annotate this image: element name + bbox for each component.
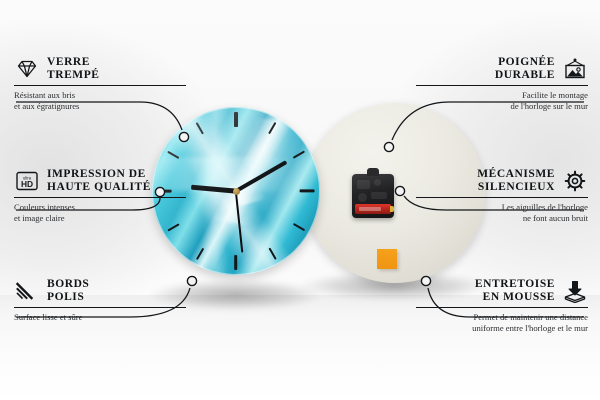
battery bbox=[355, 204, 391, 214]
feature-desc-line2: de l'horloge sur le mur bbox=[511, 101, 588, 111]
feature-desc-line1: Résistant aux bris bbox=[14, 90, 75, 100]
feature-title: BORDS POLIS bbox=[47, 278, 89, 304]
feature-description: Couleurs intenses et image claire bbox=[14, 202, 186, 223]
feature-divider bbox=[416, 307, 588, 308]
feature-mecanisme-silencieux: MÉCANISME SILENCIEUX Les aiguilles de l'… bbox=[416, 168, 588, 223]
feature-title-line1: VERRE bbox=[47, 56, 90, 68]
mechanism-detail bbox=[374, 179, 381, 186]
feature-header: POIGNÉE DURABLE bbox=[416, 56, 588, 82]
feature-desc-line1: Permet de maintenir une distance bbox=[473, 312, 588, 322]
mechanism-detail bbox=[357, 180, 370, 189]
feature-title-line2: EN MOUSSE bbox=[483, 291, 555, 303]
feature-impression-haute-qualite: ultra HD IMPRESSION DE HAUTE QUALITÉ Cou… bbox=[14, 168, 186, 223]
feature-entretoise-en-mousse: ENTRETOISE EN MOUSSE Permet de maintenir… bbox=[416, 278, 588, 333]
feature-description: Résistant aux bris et aux égratignures bbox=[14, 90, 186, 111]
feature-verre-trempe: VERRE TREMPÉ Résistant aux bris et aux é… bbox=[14, 56, 186, 111]
diagonal-lines-icon bbox=[14, 279, 40, 303]
feature-header: MÉCANISME SILENCIEUX bbox=[416, 168, 588, 194]
svg-text:HD: HD bbox=[21, 179, 33, 189]
clock-mechanism bbox=[352, 174, 394, 218]
infographic-canvas: VERRE TREMPÉ Résistant aux bris et aux é… bbox=[0, 0, 600, 400]
battery-terminal bbox=[390, 206, 394, 212]
feature-title: MÉCANISME SILENCIEUX bbox=[477, 168, 555, 194]
press-down-pad-icon bbox=[562, 279, 588, 303]
feature-divider bbox=[14, 197, 186, 198]
feature-title-line2: HAUTE QUALITÉ bbox=[47, 181, 151, 193]
feature-title-line1: ENTRETOISE bbox=[475, 278, 555, 290]
feature-description: Permet de maintenir une distance uniform… bbox=[416, 312, 588, 333]
battery-label bbox=[359, 207, 381, 211]
feature-title-line2: POLIS bbox=[47, 291, 84, 303]
gear-icon bbox=[562, 169, 588, 193]
feature-desc-line1: Couleurs intenses bbox=[14, 202, 75, 212]
feature-title-line2: SILENCIEUX bbox=[478, 181, 555, 193]
feature-title: POIGNÉE DURABLE bbox=[495, 56, 555, 82]
mechanism-shaft bbox=[367, 168, 379, 176]
feature-title: ENTRETOISE EN MOUSSE bbox=[475, 278, 555, 304]
feature-divider bbox=[416, 85, 588, 86]
feature-description: Facilite le montage de l'horloge sur le … bbox=[416, 90, 588, 111]
mechanism-detail bbox=[358, 193, 367, 202]
feature-desc-line2: uniforme entre l'horloge et le mur bbox=[472, 323, 588, 333]
feature-divider bbox=[416, 197, 588, 198]
foam-spacer bbox=[377, 249, 397, 269]
feature-poignee-durable: POIGNÉE DURABLE Facilite le montage de l… bbox=[416, 56, 588, 111]
feature-header: ultra HD IMPRESSION DE HAUTE QUALITÉ bbox=[14, 168, 186, 194]
feature-desc-line1: Facilite le montage bbox=[522, 90, 588, 100]
feature-desc-line2: ne font aucun bruit bbox=[523, 213, 588, 223]
feature-title: IMPRESSION DE HAUTE QUALITÉ bbox=[47, 168, 151, 194]
feature-divider bbox=[14, 85, 186, 86]
feature-header: VERRE TREMPÉ bbox=[14, 56, 186, 82]
feature-desc-line1: Surface lisse et sûre bbox=[14, 312, 83, 322]
feature-title-line1: BORDS bbox=[47, 278, 89, 290]
feature-title-line1: IMPRESSION DE bbox=[47, 168, 146, 180]
feature-divider bbox=[14, 307, 186, 308]
feature-desc-line2: et aux égratignures bbox=[14, 101, 79, 111]
feature-title-line1: MÉCANISME bbox=[477, 168, 555, 180]
feature-desc-line1: Les aiguilles de l'horloge bbox=[502, 202, 588, 212]
feature-desc-line2: et image claire bbox=[14, 213, 65, 223]
feature-header: BORDS POLIS bbox=[14, 278, 186, 304]
hanging-picture-icon bbox=[562, 57, 588, 81]
feature-title-line1: POIGNÉE bbox=[498, 56, 555, 68]
feature-title: VERRE TREMPÉ bbox=[47, 56, 100, 82]
feature-bords-polis: BORDS POLIS Surface lisse et sûre bbox=[14, 278, 186, 323]
diamond-icon bbox=[14, 57, 40, 81]
mechanism-detail bbox=[371, 192, 387, 199]
feature-description: Surface lisse et sûre bbox=[14, 312, 186, 322]
feature-title-line2: TREMPÉ bbox=[47, 69, 100, 81]
ultra-hd-icon: ultra HD bbox=[14, 169, 40, 193]
feature-title-line2: DURABLE bbox=[495, 69, 555, 81]
feature-description: Les aiguilles de l'horloge ne font aucun… bbox=[416, 202, 588, 223]
feature-header: ENTRETOISE EN MOUSSE bbox=[416, 278, 588, 304]
